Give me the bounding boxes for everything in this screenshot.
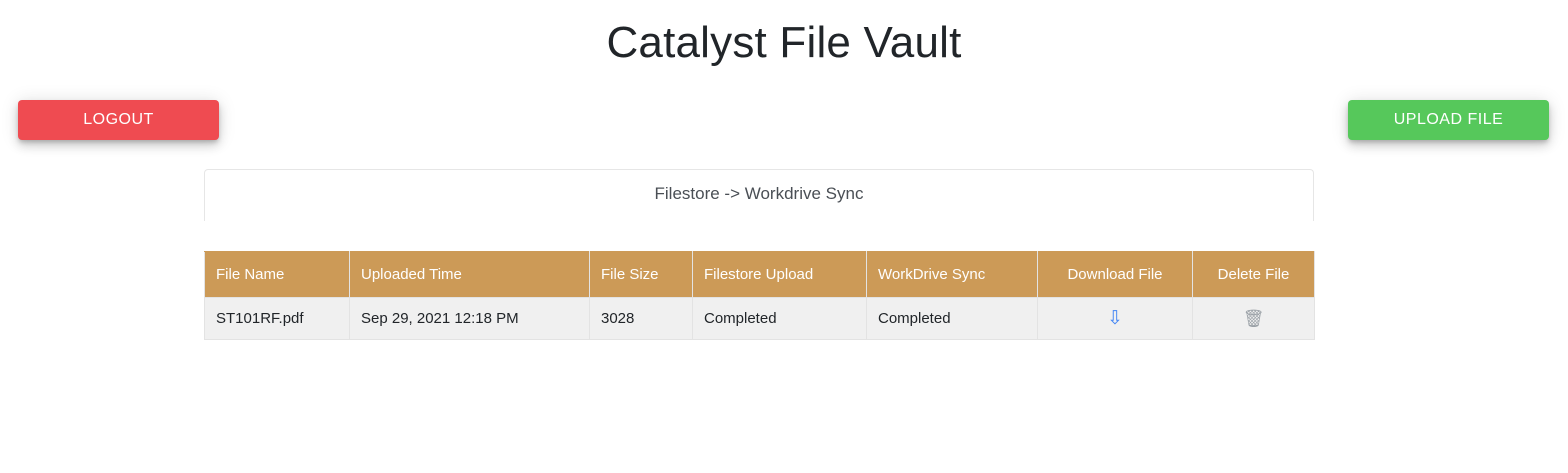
column-header-file-size[interactable]: File Size	[590, 252, 693, 298]
table-row: ST101RF.pdf Sep 29, 2021 12:18 PM 3028 C…	[205, 298, 1315, 340]
column-header-workdrive-sync[interactable]: WorkDrive Sync	[867, 252, 1038, 298]
logout-button[interactable]: LOGOUT	[18, 100, 219, 140]
column-header-delete-file[interactable]: Delete File	[1193, 252, 1315, 298]
trash-icon[interactable]: 🗑	[1243, 310, 1265, 327]
sync-panel-title: Filestore -> Workdrive Sync	[205, 170, 1313, 217]
file-table-container: File Name Uploaded Time File Size Filest…	[204, 251, 1314, 340]
cell-delete-file: 🗑	[1193, 298, 1315, 340]
cell-file-name: ST101RF.pdf	[205, 298, 350, 340]
cell-download-file: ⇩	[1038, 298, 1193, 340]
download-arrow-icon[interactable]: ⇩	[1107, 309, 1123, 328]
filestore-workdrive-sync-panel: Filestore -> Workdrive Sync	[204, 169, 1314, 221]
table-header-row: File Name Uploaded Time File Size Filest…	[205, 252, 1315, 298]
file-table: File Name Uploaded Time File Size Filest…	[204, 251, 1315, 340]
column-header-file-name[interactable]: File Name	[205, 252, 350, 298]
column-header-filestore-upload[interactable]: Filestore Upload	[693, 252, 867, 298]
cell-uploaded-time: Sep 29, 2021 12:18 PM	[350, 298, 590, 340]
column-header-uploaded-time[interactable]: Uploaded Time	[350, 252, 590, 298]
action-bar: LOGOUT UPLOAD FILE	[0, 91, 1568, 147]
cell-filestore-upload: Completed	[693, 298, 867, 340]
upload-file-button[interactable]: UPLOAD FILE	[1348, 100, 1549, 140]
cell-workdrive-sync: Completed	[867, 298, 1038, 340]
column-header-download-file[interactable]: Download File	[1038, 252, 1193, 298]
page-title: Catalyst File Vault	[0, 0, 1568, 72]
cell-file-size: 3028	[590, 298, 693, 340]
